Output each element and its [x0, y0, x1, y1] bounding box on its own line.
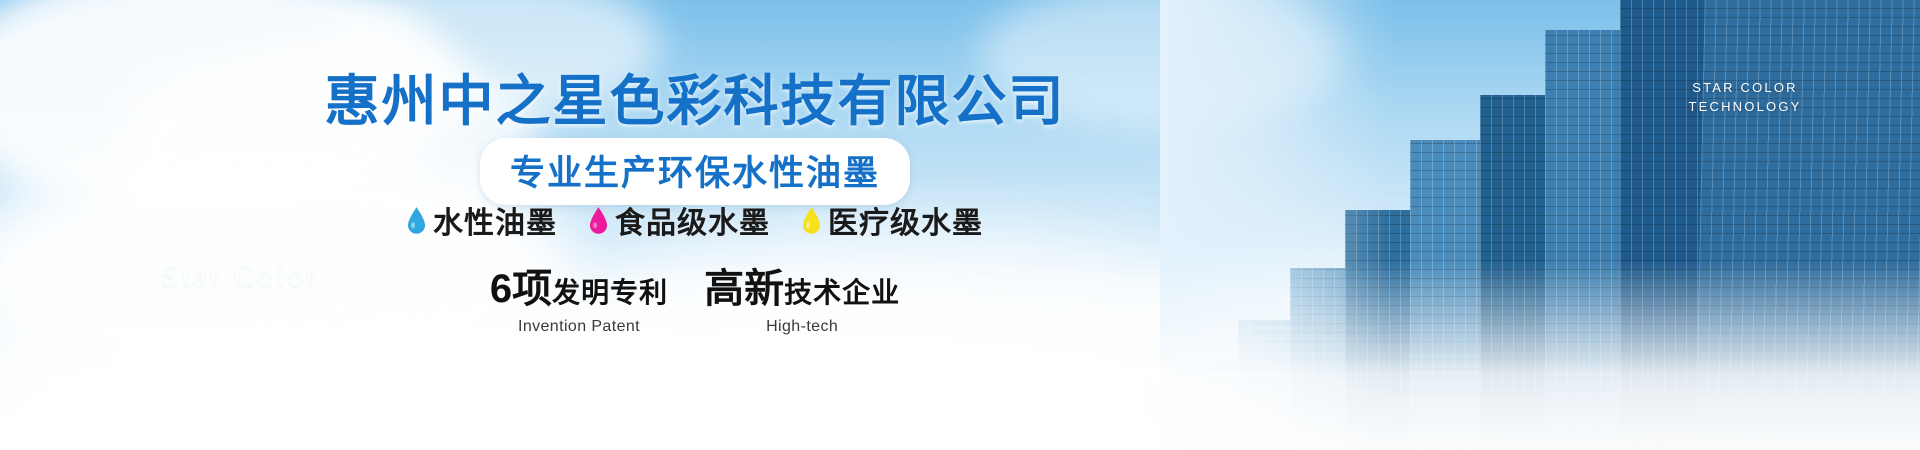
water-drop-icon [407, 207, 426, 234]
feature-label: 水性油墨 [433, 198, 557, 242]
feature-label: 食品级水墨 [615, 198, 770, 242]
corner-logo-line2: TECHNOLOGY [1670, 97, 1820, 116]
badge-invention-patent: 6项发明专利 Invention Patent [490, 256, 668, 336]
credential-badges: 6项发明专利 Invention Patent 高新技术企业 High-tech [0, 256, 1390, 336]
badge-number: 高新 [704, 256, 784, 314]
badge-high-tech: 高新技术企业 High-tech [704, 256, 900, 336]
feature-item-food-grade: 食品级水墨 [589, 198, 770, 242]
subtitle-pill-wrap: 专业生产环保水性油墨 [0, 138, 1390, 205]
badge-text: 发明专利 [552, 271, 668, 311]
badge-english: Invention Patent [490, 318, 668, 336]
corner-logo-line1: STAR COLOR [1670, 78, 1820, 97]
badge-english: High-tech [704, 318, 900, 336]
company-title: 惠州中之星色彩科技有限公司 [0, 56, 1390, 136]
subtitle-pill: 专业生产环保水性油墨 [480, 138, 910, 205]
promo-banner: Star Color STAR COLOR TECHNOLOGY 惠州中之星色彩… [0, 0, 1920, 450]
badge-number: 6项 [490, 256, 552, 314]
banner-content: 惠州中之星色彩科技有限公司 专业生产环保水性油墨 水性油墨 食品级水墨 [0, 0, 1390, 450]
corner-logo: STAR COLOR TECHNOLOGY [1670, 78, 1820, 116]
feature-item-water-ink: 水性油墨 [407, 198, 557, 242]
feature-label: 医疗级水墨 [828, 198, 983, 242]
badge-text: 技术企业 [784, 271, 900, 311]
feature-item-medical-grade: 医疗级水墨 [802, 198, 983, 242]
water-drop-icon [802, 207, 821, 234]
feature-list: 水性油墨 食品级水墨 医疗级水墨 [0, 198, 1390, 242]
water-drop-icon [589, 207, 608, 234]
